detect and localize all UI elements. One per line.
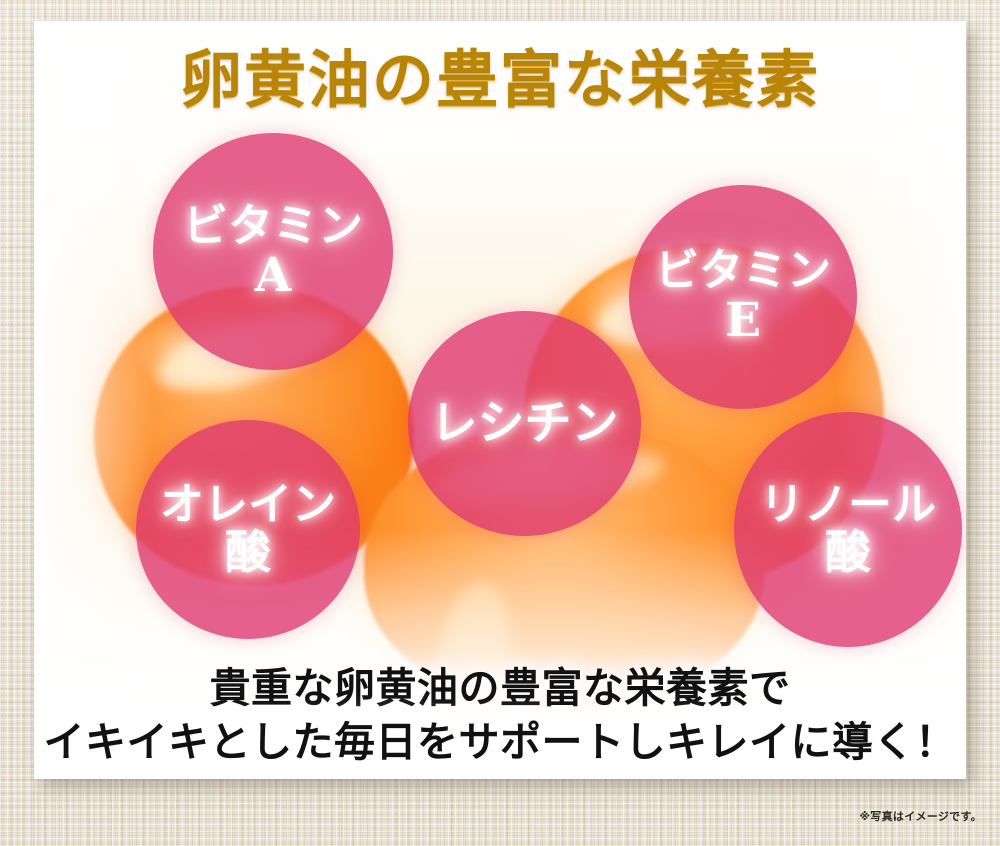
caption-line-1: 貴重な卵黄油の豊富な栄養素で [34,661,966,715]
nutrient-bubble-vitamin-a: ビタミン A [153,133,393,370]
caption-line-2: イキイキとした毎日をサポートしキレイに導く！ [34,715,966,769]
nutrient-label-line2: 酸 [225,529,271,576]
nutrient-label-line2: 酸 [825,529,871,576]
nutrient-label-line1: リノール [760,483,936,528]
nutrient-bubble-lecithin: レシチン [408,311,641,536]
image-disclaimer-note: ※写真はイメージです。 [859,808,982,824]
content-card: 卵黄油の豊富な栄養素 ビタミン A ビタミン E レシチン オレイン 酸 リノー… [34,21,966,779]
page-background: 卵黄油の豊富な栄養素 ビタミン A ビタミン E レシチン オレイン 酸 リノー… [0,0,1000,846]
nutrient-bubble-vitamin-e: ビタミン E [629,185,857,409]
page-title: 卵黄油の豊富な栄養素 [34,47,966,114]
nutrient-bubble-oleic-acid: オレイン 酸 [136,420,360,639]
nutrient-label-line1: オレイン [160,483,336,528]
nutrient-label-line2: E [725,297,761,345]
nutrient-label-line1: レシチン [431,400,619,448]
nutrient-bubble-linoleic-acid: リノール 酸 [734,412,962,647]
nutrient-label-line1: ビタミン [183,203,363,249]
caption-text: 貴重な卵黄油の豊富な栄養素で イキイキとした毎日をサポートしキレイに導く！ [34,661,966,769]
nutrient-label-line1: ビタミン [655,249,831,294]
nutrient-label-line2: A [255,252,291,300]
